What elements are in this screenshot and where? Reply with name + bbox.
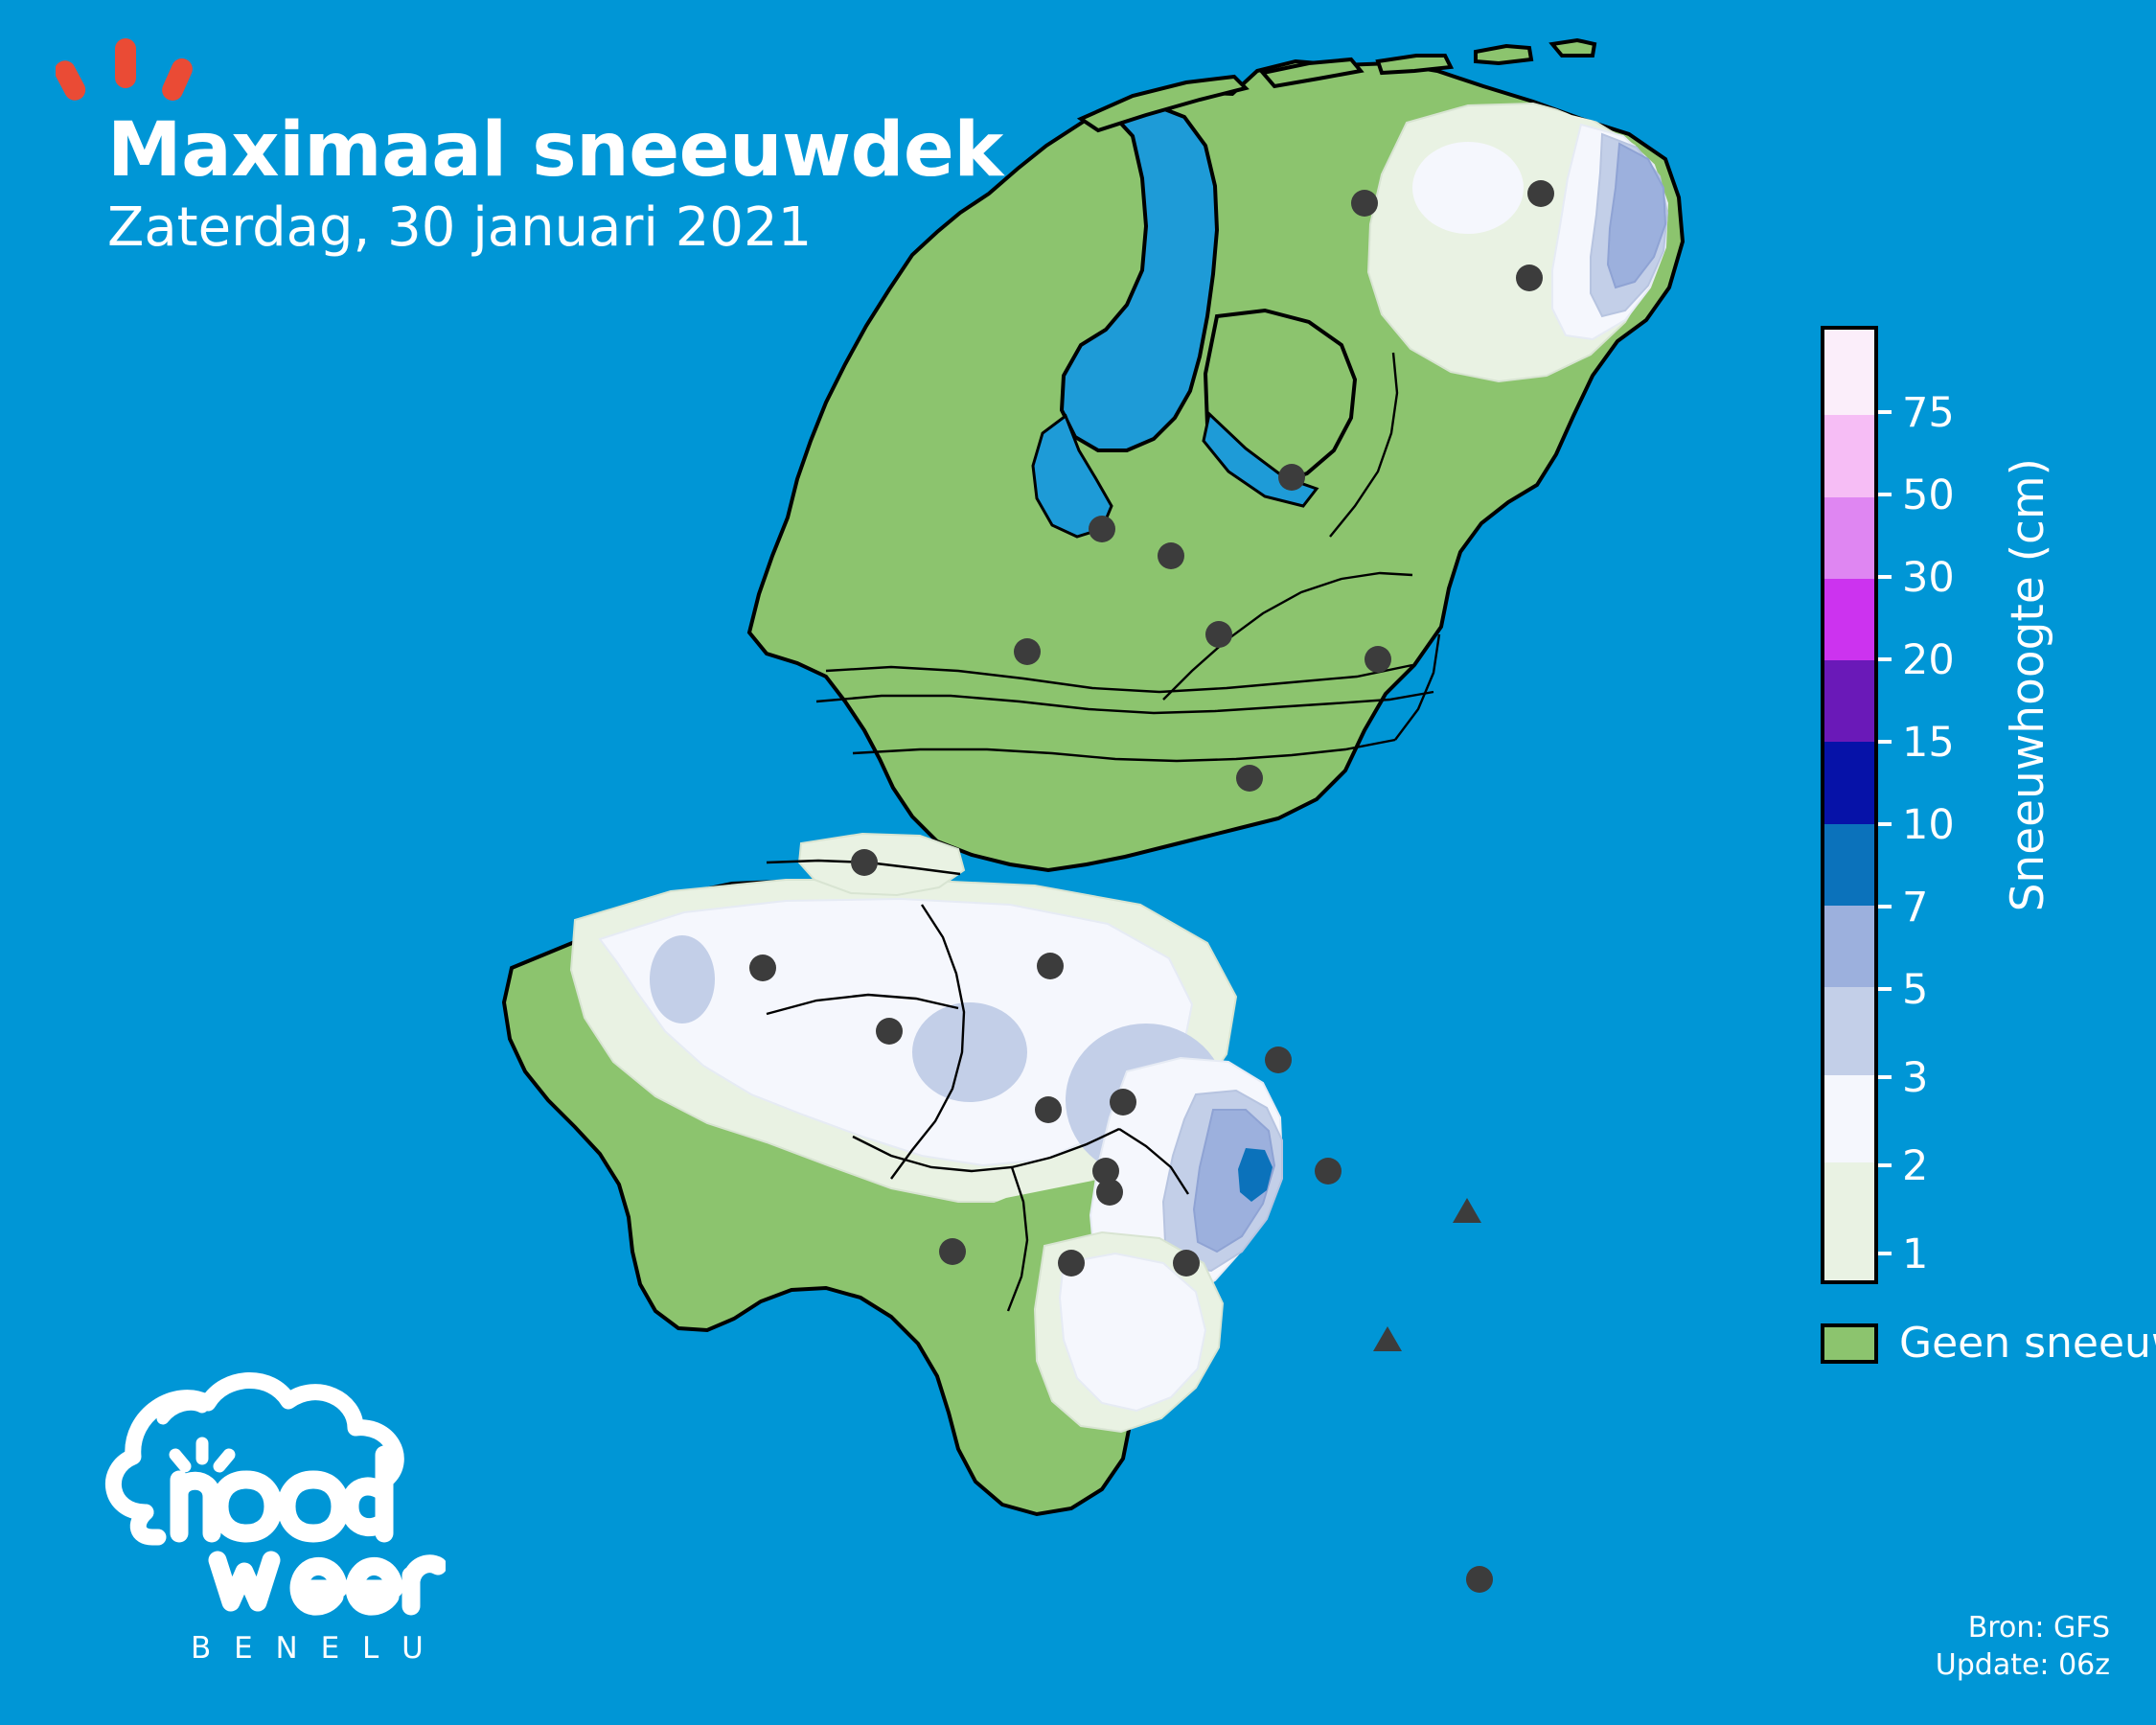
- tick-mark-icon: [1878, 575, 1892, 579]
- no-snow-legend-entry: Geen sneeuw: [1821, 1319, 2156, 1368]
- colorbar-band-2-3: [1824, 1075, 1874, 1162]
- colorbar-band-10-15: [1824, 742, 1874, 823]
- cloud-tail-icon: [138, 1512, 158, 1537]
- colorbar-tick-label: 1: [1902, 1234, 1928, 1276]
- colorbar-band-30-50: [1824, 497, 1874, 579]
- colorbar-tick-label: 2: [1902, 1146, 1928, 1187]
- colorbar-gradient-bar: [1821, 326, 1878, 1284]
- sun-arc-icon: [163, 1404, 202, 1418]
- colorbar-tick-label: 30: [1902, 558, 1955, 599]
- snow-map-infographic: Maximaal sneeuwdek Zaterdag, 30 januari …: [0, 0, 2156, 1725]
- tick-mark-icon: [1878, 410, 1892, 414]
- tick-mark-icon: [1878, 905, 1892, 908]
- colorbar-band-5-7: [1824, 906, 1874, 987]
- no-snow-label: Geen sneeuw: [1899, 1319, 2156, 1368]
- colorbar-band-20-30: [1824, 579, 1874, 660]
- tick-mark-icon: [1878, 987, 1892, 991]
- tick-mark-icon: [1878, 493, 1892, 496]
- colorbar-tick-label: 50: [1902, 475, 1955, 517]
- colorbar-tick-label: 5: [1902, 970, 1928, 1011]
- tick-mark-icon: [1878, 1163, 1892, 1167]
- no-snow-swatch: [1821, 1323, 1878, 1364]
- wordmark-noodweer-icon: [179, 1455, 438, 1606]
- colorbar-tick-label: 75: [1902, 393, 1955, 434]
- colorbar-band-50-75: [1824, 415, 1874, 496]
- tick-mark-icon: [1878, 1075, 1892, 1079]
- colorbar-tick-label: 20: [1902, 640, 1955, 681]
- colorbar-band-1-2: [1824, 1162, 1874, 1280]
- tick-mark-icon: [1878, 740, 1892, 744]
- title-block: Maximaal sneeuwdek Zaterdag, 30 januari …: [107, 113, 1257, 255]
- colorbar-legend: 75 50 30 20 15 10: [1814, 316, 2140, 1399]
- colorbar-axis-label: Sneeuwhoogte (cm): [2002, 458, 2054, 911]
- attribution-block: Bron: GFS Update: 06z: [1936, 1609, 2110, 1685]
- tick-mark-icon: [1878, 657, 1892, 661]
- colorbar-tick-label: 3: [1902, 1058, 1928, 1099]
- colorbar-band-7-10: [1824, 824, 1874, 906]
- colorbar-band-3-5: [1824, 987, 1874, 1074]
- colorbar-tick-label: 7: [1902, 887, 1928, 929]
- tick-mark-icon: [1878, 1252, 1892, 1255]
- colorbar-band-75plus: [1824, 330, 1874, 415]
- tick-mark-icon: [1878, 822, 1892, 826]
- noodweer-benelux-logo: B E N E L U X: [91, 1359, 446, 1694]
- page-title: Maximaal sneeuwdek: [107, 113, 1257, 188]
- sun-rays-icon: [175, 1443, 229, 1466]
- update-line: Update: 06z: [1936, 1646, 2110, 1685]
- colorbar-tick-label: 10: [1902, 805, 1955, 846]
- colorbar-band-15-20: [1824, 660, 1874, 742]
- brand-tagline: B E N E L U X: [191, 1631, 446, 1666]
- source-line: Bron: GFS: [1936, 1609, 2110, 1647]
- page-subtitle: Zaterdag, 30 januari 2021: [107, 201, 1257, 255]
- colorbar-tick-label: 15: [1902, 723, 1955, 764]
- brand-mark-icon: [56, 36, 218, 103]
